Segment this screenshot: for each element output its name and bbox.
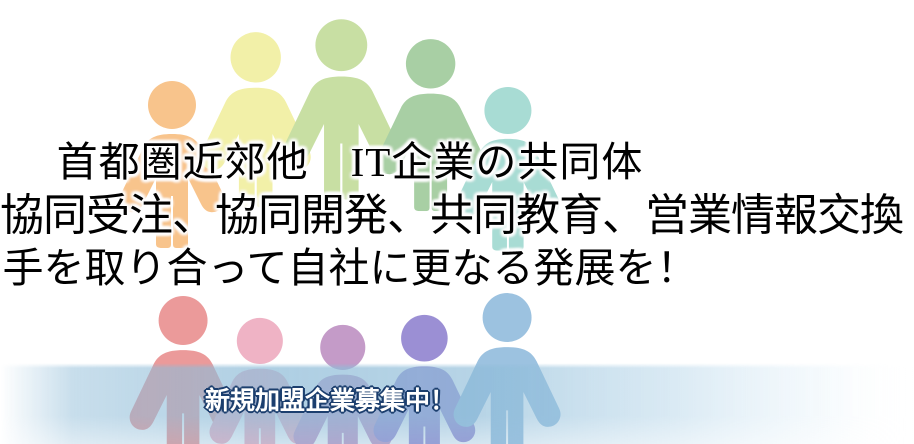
person-blue bbox=[452, 290, 562, 444]
headline-line-2: 協同受注、協同開発、共同教育、営業情報交換 bbox=[0, 194, 700, 238]
headline-block: 首都圏近郊他 IT企業の共同体 協同受注、協同開発、共同教育、営業情報交換 手を… bbox=[0, 142, 700, 289]
recruiting-caption: 新規加盟企業募集中！ bbox=[0, 381, 660, 417]
headline-line-3: 手を取り合って自社に更なる発展を！ bbox=[0, 248, 700, 289]
headline-line-1: 首都圏近郊他 IT企業の共同体 bbox=[0, 142, 700, 183]
promo-banner: 首都圏近郊他 IT企業の共同体 協同受注、協同開発、共同教育、営業情報交換 手を… bbox=[0, 0, 914, 444]
